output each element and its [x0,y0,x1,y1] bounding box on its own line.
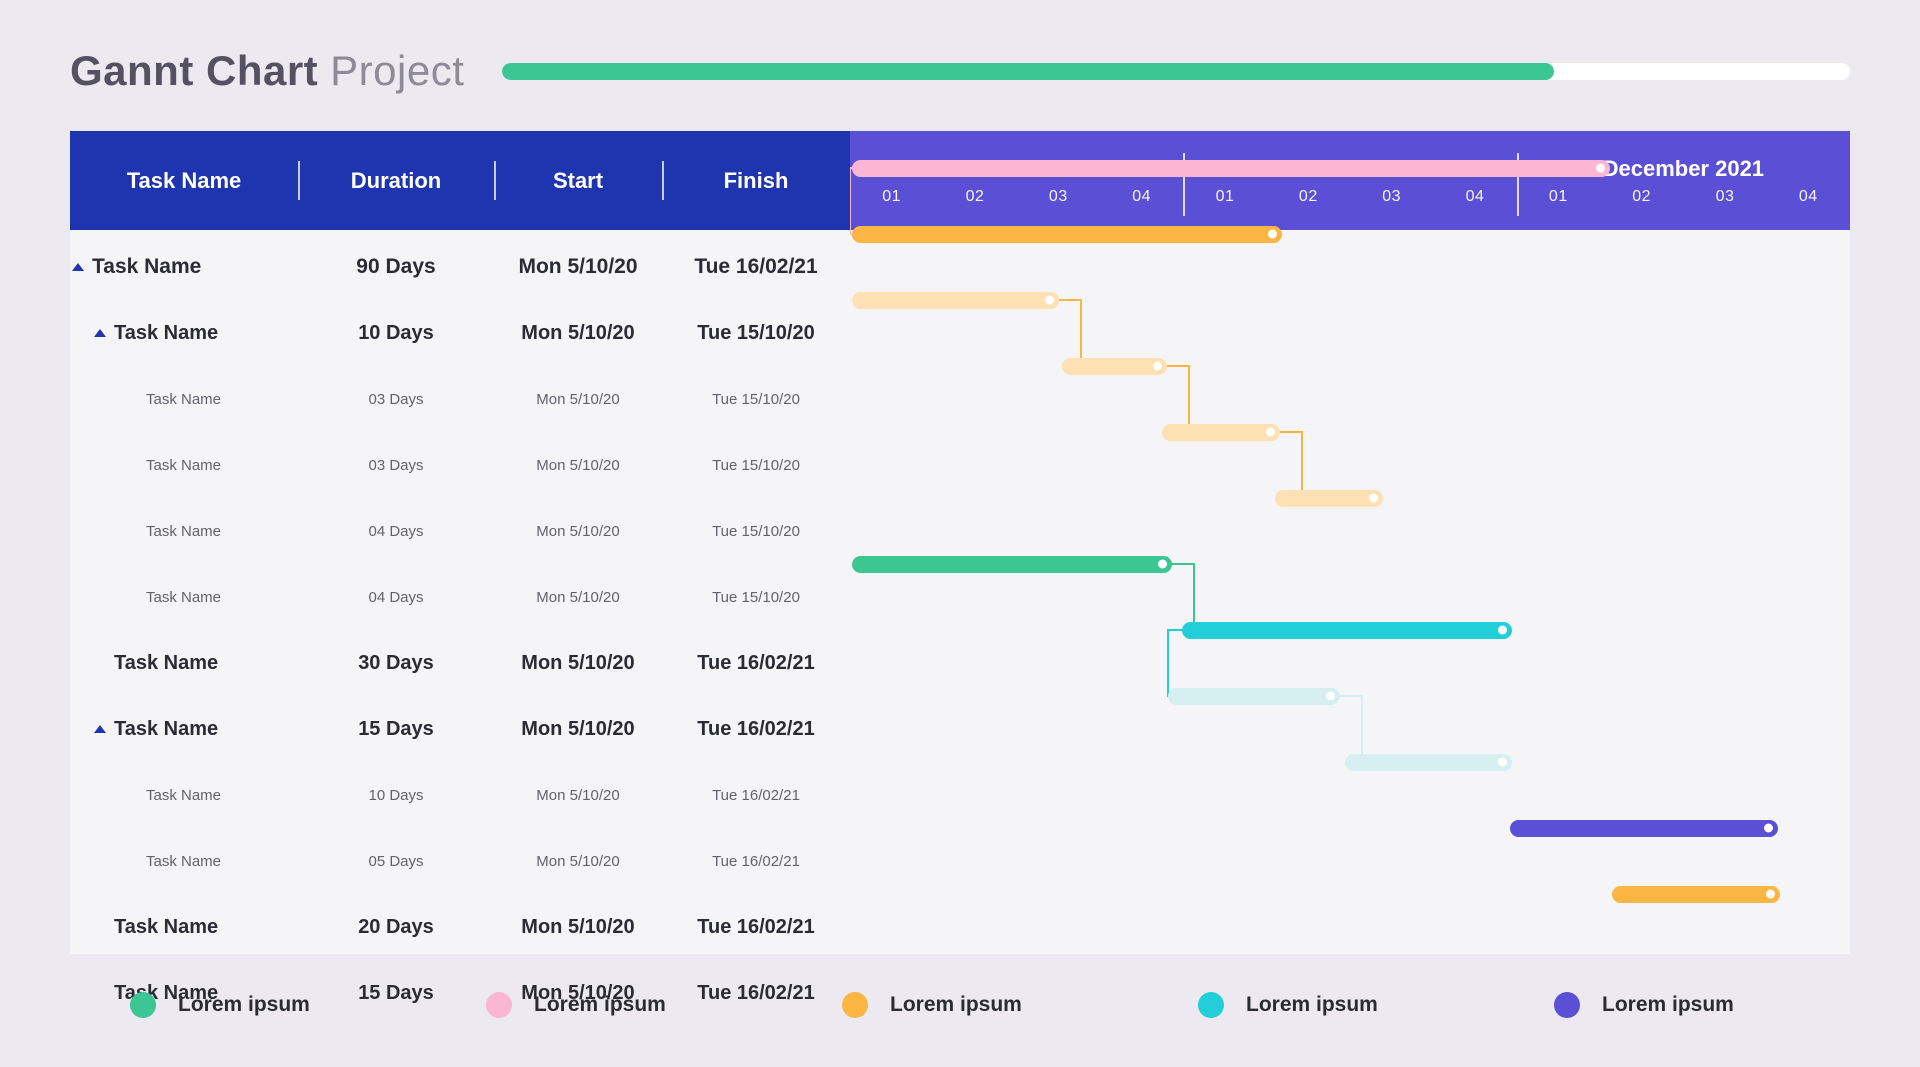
caret-up-icon[interactable] [72,263,84,271]
bar-end-handle[interactable] [1764,824,1773,833]
gantt-bar[interactable] [852,556,1172,573]
cell-finish: Tue 16/02/21 [662,630,850,696]
cell-duration: 20 Days [298,894,494,960]
cell-start: Mon 5/10/20 [494,234,662,300]
cell-finish: Tue 16/02/21 [662,762,850,828]
cell-duration: 05 Days [298,828,494,894]
bar-end-handle[interactable] [1268,230,1277,239]
gantt-bar[interactable] [1510,820,1778,837]
task-name-label: Task Name [114,652,218,675]
legend: Lorem ipsumLorem ipsumLorem ipsumLorem i… [70,975,1850,1035]
bar-end-handle[interactable] [1153,362,1162,371]
bar-end-handle[interactable] [1326,692,1335,701]
column-header-start[interactable]: Start [494,131,662,230]
cell-finish: Tue 16/02/21 [662,828,850,894]
legend-label: Lorem ipsum [1602,993,1734,1017]
bar-end-handle[interactable] [1045,296,1054,305]
gantt-bar[interactable] [1062,358,1167,375]
bar-end-handle[interactable] [1498,626,1507,635]
cell-task-name: Task Name [70,234,298,300]
cell-duration: 90 Days [298,234,494,300]
progress-fill [502,63,1553,80]
cell-finish: Tue 15/10/20 [662,564,850,630]
gantt-bar[interactable] [852,226,1282,243]
cell-start: Mon 5/10/20 [494,432,662,498]
table-header-left: Task Name Duration Start Finish [70,131,850,230]
cell-start: Mon 5/10/20 [494,564,662,630]
legend-color-dot [130,992,156,1018]
cell-start: Mon 5/10/20 [494,300,662,366]
bar-end-handle[interactable] [1498,758,1507,767]
cell-task-name: Task Name [70,300,298,366]
bar-end-handle[interactable] [1266,428,1275,437]
cell-start: Mon 5/10/20 [494,828,662,894]
gantt-bars-area [850,131,1850,954]
cell-task-name: Task Name [70,432,298,498]
title-light: Project [330,47,464,94]
cell-finish: Tue 15/10/20 [662,366,850,432]
legend-label: Lorem ipsum [178,993,310,1017]
caret-up-icon[interactable] [94,725,106,733]
column-header-finish[interactable]: Finish [662,131,850,230]
title-bold: Gannt Chart [70,47,318,94]
legend-item[interactable]: Lorem ipsum [1138,992,1494,1018]
legend-label: Lorem ipsum [1246,993,1378,1017]
cell-duration: 04 Days [298,564,494,630]
cell-duration: 10 Days [298,762,494,828]
column-header-task-name[interactable]: Task Name [70,131,298,230]
gantt-bar[interactable] [852,292,1059,309]
cell-finish: Tue 16/02/21 [662,894,850,960]
cell-start: Mon 5/10/20 [494,696,662,762]
gantt-bar[interactable] [1182,622,1512,639]
cell-start: Mon 5/10/20 [494,366,662,432]
task-name-label: Task Name [146,457,221,474]
cell-task-name: Task Name [70,894,298,960]
cell-task-name: Task Name [70,696,298,762]
title-row: Gannt ChartProject [70,40,1850,102]
cell-task-name: Task Name [70,828,298,894]
gantt-chart-page: Gannt ChartProject Task Name Duration St… [0,0,1920,1067]
gantt-bar[interactable] [1275,490,1383,507]
cell-duration: 30 Days [298,630,494,696]
cell-finish: Tue 16/02/21 [662,234,850,300]
legend-item[interactable]: Lorem ipsum [1494,992,1850,1018]
gantt-bar[interactable] [1162,424,1280,441]
project-progress-bar[interactable] [502,63,1850,80]
task-name-label: Task Name [146,391,221,408]
bar-end-handle[interactable] [1596,164,1605,173]
task-name-label: Task Name [114,718,218,741]
column-header-duration[interactable]: Duration [298,131,494,230]
gantt-bar[interactable] [1612,886,1780,903]
cell-finish: Tue 15/10/20 [662,300,850,366]
bar-end-handle[interactable] [1369,494,1378,503]
cell-task-name: Task Name [70,564,298,630]
legend-label: Lorem ipsum [534,993,666,1017]
task-name-label: Task Name [146,787,221,804]
task-name-label: Task Name [146,523,221,540]
bar-end-handle[interactable] [1766,890,1775,899]
cell-duration: 10 Days [298,300,494,366]
task-name-label: Task Name [114,322,218,345]
task-name-label: Task Name [92,255,201,279]
gantt-bar[interactable] [1168,688,1340,705]
cell-finish: Tue 15/10/20 [662,498,850,564]
cell-duration: 15 Days [298,696,494,762]
cell-start: Mon 5/10/20 [494,630,662,696]
cell-task-name: Task Name [70,630,298,696]
cell-duration: 03 Days [298,366,494,432]
gantt-bar[interactable] [852,160,1610,177]
gantt-board: Task Name Duration Start Finish October … [70,131,1850,954]
cell-task-name: Task Name [70,366,298,432]
bar-end-handle[interactable] [1158,560,1167,569]
gantt-bar[interactable] [1345,754,1512,771]
cell-duration: 03 Days [298,432,494,498]
legend-item[interactable]: Lorem ipsum [70,992,426,1018]
cell-finish: Tue 16/02/21 [662,696,850,762]
legend-color-dot [842,992,868,1018]
task-name-label: Task Name [146,853,221,870]
cell-start: Mon 5/10/20 [494,762,662,828]
cell-finish: Tue 15/10/20 [662,432,850,498]
task-name-label: Task Name [146,589,221,606]
legend-color-dot [1554,992,1580,1018]
cell-start: Mon 5/10/20 [494,498,662,564]
page-title: Gannt ChartProject [70,50,464,92]
cell-task-name: Task Name [70,762,298,828]
cell-duration: 04 Days [298,498,494,564]
legend-item[interactable]: Lorem ipsum [782,992,1138,1018]
legend-item[interactable]: Lorem ipsum [426,992,782,1018]
caret-up-icon[interactable] [94,329,106,337]
task-name-label: Task Name [114,916,218,939]
cell-task-name: Task Name [70,498,298,564]
legend-color-dot [486,992,512,1018]
legend-label: Lorem ipsum [890,993,1022,1017]
cell-start: Mon 5/10/20 [494,894,662,960]
legend-color-dot [1198,992,1224,1018]
